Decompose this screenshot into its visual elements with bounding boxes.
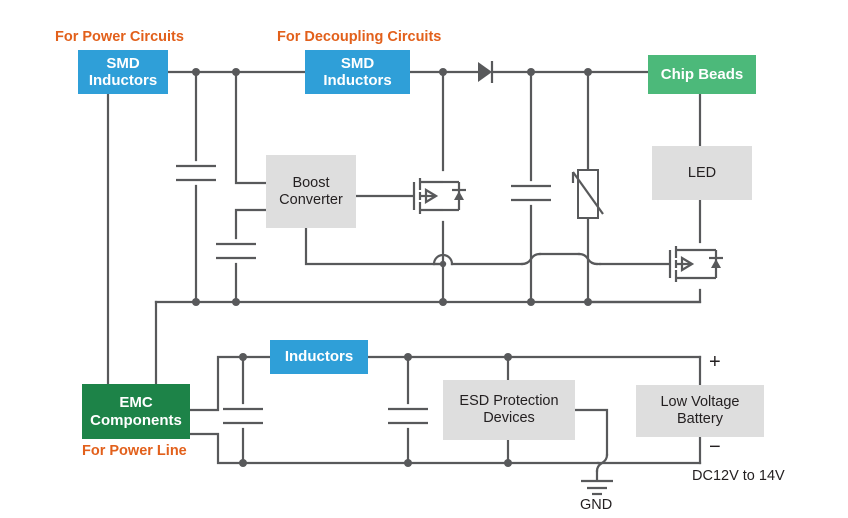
esd-protection-line1: ESD Protection [459, 393, 558, 410]
junction-dot [584, 68, 592, 76]
emc-components-line2: Components [90, 412, 182, 429]
label-ground: GND [580, 497, 612, 513]
chip-beads-label: Chip Beads [661, 66, 744, 83]
smd-inductors-decoupling-line1: SMD [323, 55, 391, 72]
emc-components-line1: EMC [90, 394, 182, 411]
led-label: LED [688, 165, 716, 182]
label-battery-voltage: DC12V to 14V [692, 468, 785, 484]
wire-boost-input-lower [236, 210, 266, 238]
wire-boost-input-top [236, 72, 266, 183]
smd-inductors-power-line1: SMD [89, 55, 157, 72]
wire-boost-ground-return [306, 228, 443, 264]
wire-emc-out-top [190, 357, 270, 410]
block-smd-inductors-power[interactable]: SMD Inductors [78, 50, 168, 94]
ground-symbol [581, 481, 613, 494]
junction-dot [527, 68, 535, 76]
junction-dot [439, 68, 447, 76]
block-boost-converter[interactable]: Boost Converter [266, 155, 356, 228]
wire-mosfet2-to-ground-bus [588, 290, 700, 302]
junction-dot [440, 261, 446, 267]
junction-dot [232, 68, 240, 76]
capacitor-4-symbol [223, 409, 263, 423]
label-for-power-circuits: For Power Circuits [55, 29, 184, 45]
boost-converter-line1: Boost [279, 175, 343, 192]
wire-esd-to-gnd [575, 410, 607, 455]
low-voltage-battery-line1: Low Voltage [660, 394, 739, 411]
capacitor-1-symbol [176, 166, 216, 180]
label-battery-minus: − [709, 437, 721, 457]
label-for-power-line: For Power Line [82, 443, 187, 459]
block-low-voltage-battery[interactable]: Low Voltage Battery [636, 385, 764, 437]
junction-dot [192, 298, 200, 306]
block-emc-components[interactable]: EMC Components [82, 384, 190, 439]
mosfet1-symbol [414, 178, 466, 214]
varistor-symbol [573, 170, 603, 218]
junction-dot [232, 298, 240, 306]
label-for-decoupling-circuits: For Decoupling Circuits [277, 29, 441, 45]
boost-converter-line2: Converter [279, 192, 343, 209]
junction-dot [527, 298, 535, 306]
junction-dot [404, 459, 412, 467]
circuit-diagram: SMD Inductors SMD Inductors Chip Beads L… [0, 0, 848, 518]
capacitor-5-symbol [388, 409, 428, 423]
junction-dot [239, 459, 247, 467]
label-battery-plus: + [709, 352, 721, 372]
block-esd-protection-devices[interactable]: ESD Protection Devices [443, 380, 575, 440]
block-inductors[interactable]: Inductors [270, 340, 368, 374]
block-chip-beads[interactable]: Chip Beads [648, 55, 756, 94]
junction-dot [504, 459, 512, 467]
junction-dot [439, 298, 447, 306]
capacitor-3-symbol [511, 186, 551, 200]
capacitor-2-symbol [216, 244, 256, 258]
mosfet2-symbol [670, 246, 723, 282]
junction-dot [239, 353, 247, 361]
smd-inductors-decoupling-line2: Inductors [323, 72, 391, 89]
junction-dot [584, 298, 592, 306]
esd-protection-line2: Devices [459, 410, 558, 427]
inductors-label: Inductors [285, 348, 353, 365]
diode-symbol [478, 61, 492, 83]
junction-dot [192, 68, 200, 76]
block-led[interactable]: LED [652, 146, 752, 200]
low-voltage-battery-line2: Battery [660, 411, 739, 428]
smd-inductors-power-line2: Inductors [89, 72, 157, 89]
block-smd-inductors-decoupling[interactable]: SMD Inductors [305, 50, 410, 94]
junction-dot [504, 353, 512, 361]
junction-dot [404, 353, 412, 361]
